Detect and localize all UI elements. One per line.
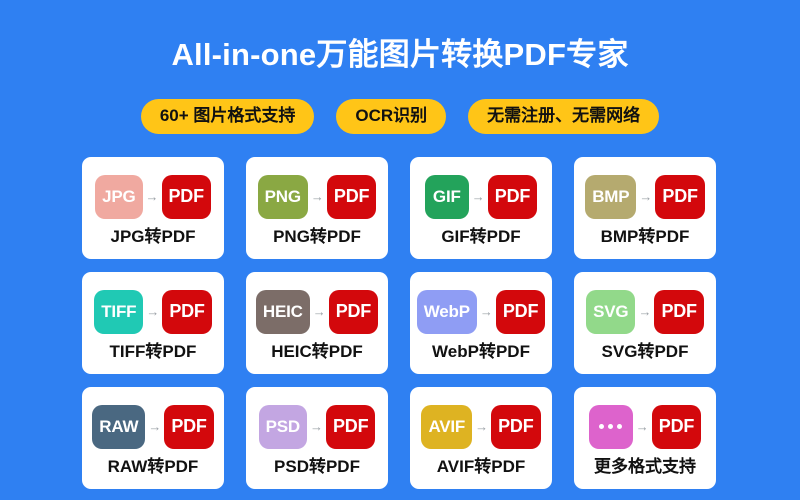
raw-format-icon: RAW: [92, 405, 145, 449]
heic-format-icon: HEIC: [256, 290, 310, 334]
format-card-label: PSD转PDF: [274, 457, 360, 477]
pdf-format-icon: PDF: [655, 175, 704, 219]
arrow-right-icon: →: [471, 190, 486, 203]
arrow-right-icon: →: [479, 305, 494, 318]
pdf-format-icon: PDF: [491, 405, 540, 449]
format-card-label: AVIF转PDF: [437, 457, 525, 477]
conversion-chip-row: AVIF→PDF: [421, 404, 540, 450]
svg-format-icon: SVG: [586, 290, 635, 334]
pdf-format-icon: PDF: [654, 290, 703, 334]
conversion-chip-row: PSD→PDF: [259, 404, 376, 450]
conversion-chip-row: PNG→PDF: [258, 174, 377, 220]
format-card-label: 更多格式支持: [594, 457, 696, 477]
format-card-label: SVG转PDF: [602, 342, 689, 362]
format-card[interactable]: BMP→PDFBMP转PDF: [574, 157, 716, 259]
format-card-label: JPG转PDF: [110, 227, 195, 247]
format-card-label: RAW转PDF: [108, 457, 199, 477]
format-card-label: TIFF转PDF: [110, 342, 197, 362]
page-title: All-in-one万能图片转换PDF专家: [0, 36, 800, 74]
jpg-format-icon: JPG: [95, 175, 142, 219]
bmp-format-icon: BMP: [585, 175, 636, 219]
feature-badge-offline: 无需注册、无需网络: [468, 99, 659, 134]
conversion-chip-row: GIF→PDF: [425, 174, 537, 220]
format-card[interactable]: HEIC→PDFHEIC转PDF: [246, 272, 388, 374]
format-card[interactable]: RAW→PDFRAW转PDF: [82, 387, 224, 489]
pdf-format-icon: PDF: [327, 175, 376, 219]
psd-format-icon: PSD: [259, 405, 307, 449]
pdf-format-icon: PDF: [326, 405, 375, 449]
conversion-chip-row: BMP→PDF: [585, 174, 705, 220]
format-card[interactable]: PNG→PDFPNG转PDF: [246, 157, 388, 259]
png-format-icon: PNG: [258, 175, 308, 219]
arrow-right-icon: →: [312, 305, 327, 318]
format-card[interactable]: AVIF→PDFAVIF转PDF: [410, 387, 552, 489]
conversion-chip-row: SVG→PDF: [586, 289, 704, 335]
format-card-label: HEIC转PDF: [271, 342, 363, 362]
format-card[interactable]: PSD→PDFPSD转PDF: [246, 387, 388, 489]
pdf-format-icon: PDF: [488, 175, 537, 219]
arrow-right-icon: →: [309, 420, 324, 433]
format-card-label: BMP转PDF: [601, 227, 690, 247]
pdf-format-icon: PDF: [162, 290, 211, 334]
conversion-chip-row: →PDF: [589, 404, 701, 450]
pdf-format-icon: PDF: [164, 405, 213, 449]
arrow-right-icon: →: [145, 305, 160, 318]
more-formats-ellipsis-icon: [589, 405, 633, 449]
pdf-format-icon: PDF: [652, 405, 701, 449]
conversion-chip-row: JPG→PDF: [95, 174, 211, 220]
format-card[interactable]: →PDF更多格式支持: [574, 387, 716, 489]
arrow-right-icon: →: [145, 190, 160, 203]
feature-badge-formats: 60+ 图片格式支持: [141, 99, 315, 134]
feature-badge-ocr: OCR识别: [336, 99, 446, 134]
webp-format-icon: WebP: [417, 290, 477, 334]
format-card-label: WebP转PDF: [432, 342, 530, 362]
conversion-chip-row: HEIC→PDF: [256, 289, 378, 335]
arrow-right-icon: →: [310, 190, 325, 203]
format-card[interactable]: TIFF→PDFTIFF转PDF: [82, 272, 224, 374]
conversion-chip-row: RAW→PDF: [92, 404, 213, 450]
arrow-right-icon: →: [638, 190, 653, 203]
format-card-grid: JPG→PDFJPG转PDFPNG→PDFPNG转PDFGIF→PDFGIF转P…: [82, 157, 718, 489]
format-card[interactable]: WebP→PDFWebP转PDF: [410, 272, 552, 374]
conversion-chip-row: TIFF→PDF: [94, 289, 211, 335]
arrow-right-icon: →: [635, 420, 650, 433]
ellipsis-icon: [599, 424, 622, 429]
format-card[interactable]: JPG→PDFJPG转PDF: [82, 157, 224, 259]
feature-badge-row: 60+ 图片格式支持 OCR识别 无需注册、无需网络: [0, 99, 800, 134]
format-card[interactable]: GIF→PDFGIF转PDF: [410, 157, 552, 259]
avif-format-icon: AVIF: [421, 405, 472, 449]
arrow-right-icon: →: [637, 305, 652, 318]
arrow-right-icon: →: [147, 420, 162, 433]
pdf-format-icon: PDF: [496, 290, 545, 334]
pdf-format-icon: PDF: [329, 290, 378, 334]
promo-poster: All-in-one万能图片转换PDF专家 60+ 图片格式支持 OCR识别 无…: [0, 0, 800, 500]
pdf-format-icon: PDF: [162, 175, 211, 219]
format-card[interactable]: SVG→PDFSVG转PDF: [574, 272, 716, 374]
conversion-chip-row: WebP→PDF: [417, 289, 546, 335]
format-card-label: GIF转PDF: [441, 227, 520, 247]
format-card-label: PNG转PDF: [273, 227, 361, 247]
arrow-right-icon: →: [474, 420, 489, 433]
gif-format-icon: GIF: [425, 175, 469, 219]
tiff-format-icon: TIFF: [94, 290, 143, 334]
